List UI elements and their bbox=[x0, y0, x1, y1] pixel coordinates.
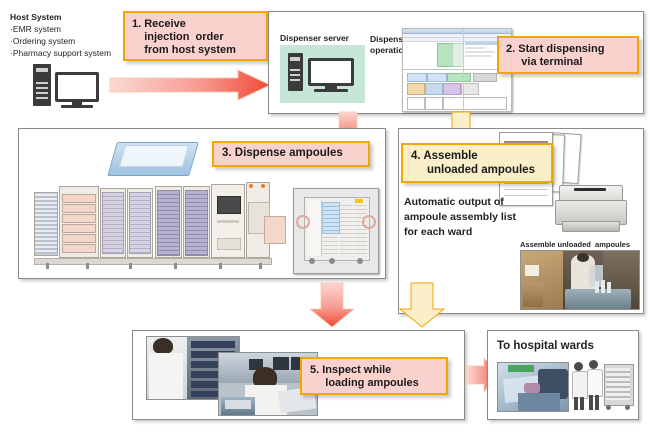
dispenser-server-label: Dispenser server bbox=[280, 33, 349, 43]
callout-step-2-line-2: via terminal bbox=[506, 56, 630, 69]
callout-step-3-line-1: 3. Dispense ampoules bbox=[222, 147, 360, 161]
diagram-canvas: Host System ·EMR system ·Ordering system… bbox=[0, 0, 650, 433]
callout-step-1-line-3: from host system bbox=[132, 44, 259, 57]
callout-step-4-line-1: 4. Assemble bbox=[411, 150, 543, 164]
arrow-host-to-dispenser bbox=[110, 70, 270, 100]
callout-step-3: 3. Dispense ampoules bbox=[212, 141, 370, 167]
wards-staff-cart-illustration bbox=[572, 358, 634, 412]
callout-step-1: 1. Receive injection order from host sys… bbox=[123, 11, 268, 61]
assembly-note-line-3: for each ward bbox=[404, 226, 472, 238]
dispenser-server-monitor-icon bbox=[308, 58, 354, 92]
callout-step-1-line-1: 1. Receive bbox=[132, 18, 259, 31]
assemble-photo bbox=[520, 250, 640, 310]
callout-step-5-line-2: loading ampoules bbox=[310, 377, 438, 390]
host-item-emr: ·EMR system bbox=[10, 24, 61, 34]
arrow-step4-to-step5 bbox=[400, 283, 444, 327]
terminal-screenshot bbox=[402, 28, 512, 112]
callout-step-5: 5. Inspect while loading ampoules bbox=[300, 357, 448, 395]
callout-step-5-line-1: 5. Inspect while bbox=[310, 364, 438, 377]
callout-step-4: 4. Assemble unloaded ampoules bbox=[401, 143, 553, 183]
printer-image bbox=[555, 185, 627, 231]
host-monitor-icon bbox=[55, 72, 99, 108]
host-item-ordering: ·Ordering system bbox=[10, 36, 75, 46]
dispenser-server-tower-icon bbox=[288, 53, 303, 91]
assembly-note-line-1: Automatic output of bbox=[404, 196, 504, 208]
wards-photo-left bbox=[497, 362, 569, 412]
arrow-step3-to-step5 bbox=[310, 283, 354, 327]
host-tower-icon bbox=[33, 64, 51, 106]
assembly-note-line-2: ampoule assembly list bbox=[404, 211, 516, 223]
callout-step-4-line-2: unloaded ampoules bbox=[411, 164, 543, 178]
hospital-wards-label: To hospital wards bbox=[497, 340, 594, 352]
host-item-pharmacy: ·Pharmacy support system bbox=[10, 48, 111, 58]
callout-step-2: 2. Start dispensing via terminal bbox=[497, 36, 639, 74]
callout-step-1-line-2: injection order bbox=[132, 31, 259, 44]
callout-step-2-line-1: 2. Start dispensing bbox=[506, 43, 630, 56]
ampoule-tray-image bbox=[112, 134, 194, 176]
host-system-title: Host System bbox=[10, 12, 62, 22]
assemble-photo-caption: Assemble unloaded ampoules bbox=[520, 240, 630, 249]
dispensing-machine-image bbox=[34, 182, 284, 270]
medication-cart-image bbox=[293, 188, 379, 274]
